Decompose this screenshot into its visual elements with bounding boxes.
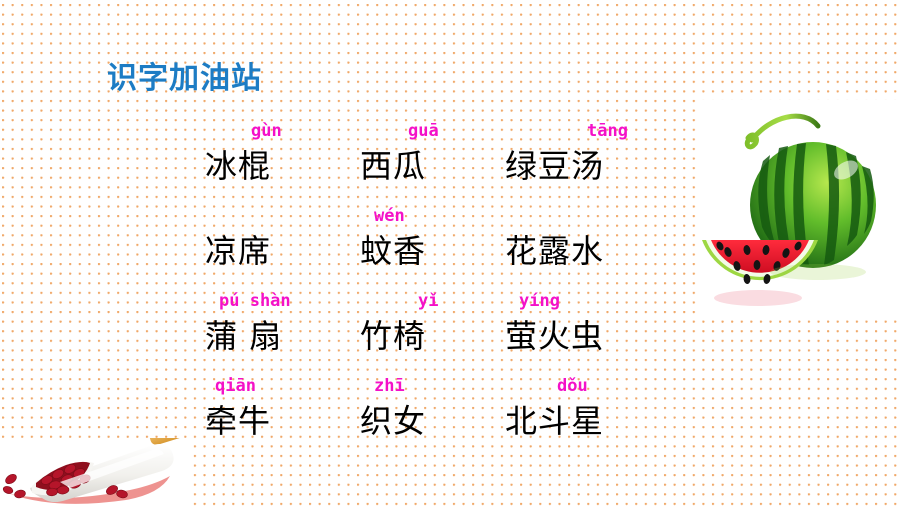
pinyin-line xyxy=(205,203,365,229)
vocab-row: pú shàn 蒲 扇 yǐ 竹椅 yíng 萤火虫 xyxy=(205,288,675,373)
hanzi-word: 牵牛 xyxy=(205,399,271,443)
pinyin-line: gùn xyxy=(205,118,365,144)
vocab-cell[interactable]: gùn 冰棍 xyxy=(205,118,365,203)
hanzi-word: 凉席 xyxy=(205,229,271,273)
pinyin-line: pú shàn xyxy=(205,288,365,314)
hanzi-word: 冰棍 xyxy=(205,144,271,188)
watermelon-icon xyxy=(700,100,898,314)
pinyin-text: gùn xyxy=(251,118,282,144)
red-bean-popsicle-illustration xyxy=(0,438,188,506)
pinyin-line: guā xyxy=(360,118,520,144)
pinyin-line: zhī xyxy=(360,373,520,399)
pinyin-line: wén xyxy=(360,203,520,229)
pinyin-text: wén xyxy=(374,203,405,229)
vocab-cell[interactable]: tāng 绿豆汤 xyxy=(505,118,665,203)
slide-canvas: 识字加油站 gùn 冰棍 guā 西瓜 xyxy=(0,0,900,506)
watermelon-illustration xyxy=(700,100,898,314)
page-title: 识字加油站 xyxy=(107,62,262,97)
vocab-cell[interactable]: yíng 萤火虫 xyxy=(505,288,665,373)
hanzi-word: 绿豆汤 xyxy=(505,144,604,188)
vocab-row: 凉席 wén 蚊香 花露水 xyxy=(205,203,675,288)
pinyin-line: yǐ xyxy=(360,288,520,314)
hanzi-word: 竹椅 xyxy=(360,314,426,358)
pinyin-text: qiān xyxy=(215,373,256,399)
hanzi-line: 牵牛 xyxy=(205,399,365,506)
pinyin-text: guā xyxy=(408,118,439,144)
vocab-cell[interactable]: wén 蚊香 xyxy=(360,203,520,288)
vocabulary-grid: gùn 冰棍 guā 西瓜 tāng 绿豆汤 xyxy=(205,118,675,458)
pinyin-line: qiān xyxy=(205,373,365,399)
vocab-cell[interactable]: qiān 牵牛 xyxy=(205,373,365,458)
vocab-cell[interactable]: guā 西瓜 xyxy=(360,118,520,203)
pinyin-text: dǒu xyxy=(557,373,588,399)
vocab-cell[interactable]: 花露水 xyxy=(505,203,665,288)
pinyin-line xyxy=(505,203,665,229)
pinyin-line: yíng xyxy=(505,288,665,314)
vocab-cell[interactable]: zhī 织女 xyxy=(360,373,520,458)
vocab-row: qiān 牵牛 zhī 织女 dǒu 北斗星 xyxy=(205,373,675,458)
vocab-row: gùn 冰棍 guā 西瓜 tāng 绿豆汤 xyxy=(205,118,675,203)
hanzi-word: 花露水 xyxy=(505,229,604,273)
pinyin-line: tāng xyxy=(505,118,665,144)
hanzi-line: 织女 xyxy=(360,399,520,506)
popsicle-icon xyxy=(0,438,188,506)
hanzi-word: 北斗星 xyxy=(505,399,604,443)
vocab-cell[interactable]: yǐ 竹椅 xyxy=(360,288,520,373)
pinyin-text: zhī xyxy=(374,373,405,399)
pinyin-text: tāng xyxy=(587,118,628,144)
hanzi-word: 蚊香 xyxy=(360,229,426,273)
hanzi-line: 北斗星 xyxy=(505,399,665,506)
hanzi-word: 织女 xyxy=(360,399,426,443)
pinyin-text: yǐ xyxy=(418,288,438,314)
hanzi-word: 西瓜 xyxy=(360,144,426,188)
vocab-cell[interactable]: dǒu 北斗星 xyxy=(505,373,665,458)
pinyin-text: pú shàn xyxy=(219,288,291,314)
pinyin-line: dǒu xyxy=(505,373,665,399)
vocab-cell[interactable]: pú shàn 蒲 扇 xyxy=(205,288,365,373)
vocab-cell[interactable]: 凉席 xyxy=(205,203,365,288)
hanzi-word: 蒲 扇 xyxy=(205,314,282,358)
pinyin-text: yíng xyxy=(519,288,560,314)
hanzi-word: 萤火虫 xyxy=(505,314,604,358)
